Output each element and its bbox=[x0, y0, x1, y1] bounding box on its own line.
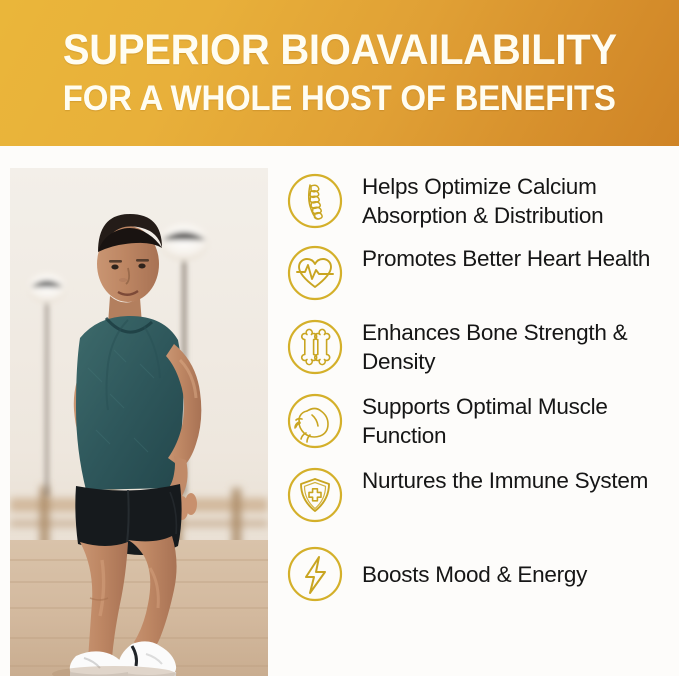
benefit-label: Helps Optimize Calcium Absorption & Dist… bbox=[362, 172, 678, 230]
header-title-line-1: SUPERIOR BIOAVAILABILITY bbox=[63, 29, 617, 72]
benefit-item-immune-system: Nurtures the Immune System bbox=[286, 466, 679, 524]
benefit-label: Promotes Better Heart Health bbox=[362, 244, 650, 274]
benefit-label: Supports Optimal Muscle Function bbox=[362, 392, 678, 450]
benefit-item-mood-energy: Boosts Mood & Energy bbox=[286, 545, 679, 603]
benefit-item-bone-strength: Enhances Bone Strength & Density bbox=[286, 318, 679, 376]
benefit-item-calcium-absorption: Helps Optimize Calcium Absorption & Dist… bbox=[286, 172, 679, 230]
hero-photo-runner bbox=[10, 168, 268, 676]
spine-icon bbox=[286, 172, 344, 230]
shield-cross-icon bbox=[286, 466, 344, 524]
benefit-item-heart-health: Promotes Better Heart Health bbox=[286, 244, 679, 302]
benefit-label: Boosts Mood & Energy bbox=[362, 545, 587, 590]
benefit-label: Nurtures the Immune System bbox=[362, 466, 648, 496]
lightning-bolt-icon bbox=[286, 545, 344, 603]
bones-icon bbox=[286, 318, 344, 376]
heart-pulse-icon bbox=[286, 244, 344, 302]
muscle-arm-icon bbox=[286, 392, 344, 450]
benefit-label: Enhances Bone Strength & Density bbox=[362, 318, 678, 376]
header-title-line-2: FOR A WHOLE HOST OF BENEFITS bbox=[63, 81, 616, 117]
benefit-item-muscle-function: Supports Optimal Muscle Function bbox=[286, 392, 679, 450]
benefits-list: Helps Optimize Calcium Absorption & Dist… bbox=[286, 170, 679, 676]
header-banner: SUPERIOR BIOAVAILABILITY FOR A WHOLE HOS… bbox=[0, 0, 679, 146]
